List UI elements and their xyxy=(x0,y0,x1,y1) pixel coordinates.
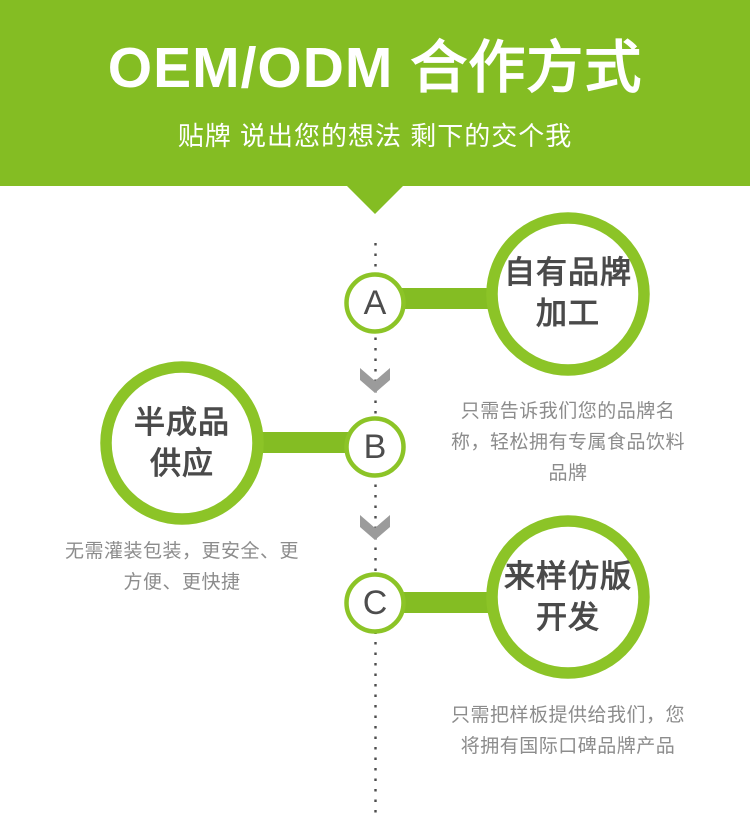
step-label-a: 自有品牌 加工 xyxy=(468,252,668,334)
step-description-a: 只需告诉我们您的品牌名称，轻松拥有专属食品饮料品牌 xyxy=(443,396,693,489)
step-letter-c: C xyxy=(345,583,405,623)
header-banner: OEM/ODM 合作方式 贴牌 说出您的想法 剩下的交个我 xyxy=(0,0,750,186)
triangle-down-icon xyxy=(347,186,403,214)
oem-odm-infographic: OEM/ODM 合作方式 贴牌 说出您的想法 剩下的交个我 A B C 自有品牌… xyxy=(0,0,750,823)
step-description-c: 只需把样板提供给我们，您将拥有国际口碑品牌产品 xyxy=(443,700,693,762)
page-title: OEM/ODM 合作方式 xyxy=(0,34,750,102)
step-letter-a: A xyxy=(345,283,405,323)
step-label-b: 半成品 供应 xyxy=(82,402,282,484)
step-description-b: 无需灌装包装，更安全、更方便、更快捷 xyxy=(57,536,307,598)
step-label-c: 来样仿版 开发 xyxy=(468,556,668,638)
page-subtitle: 贴牌 说出您的想法 剩下的交个我 xyxy=(0,118,750,154)
step-letter-b: B xyxy=(345,427,405,467)
